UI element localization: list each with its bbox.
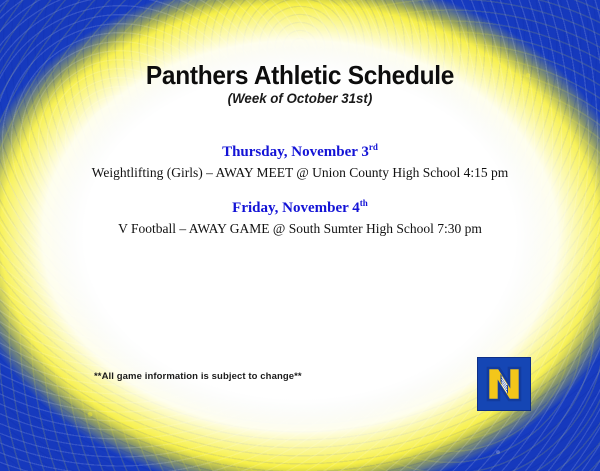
schedule-list: Thursday, November 3rd Weightlifting (Gi…: [0, 142, 600, 254]
entry-date-text: Friday, November 4: [232, 200, 360, 216]
entry-detail-text: V Football – AWAY GAME @ South Sumter Hi…: [0, 219, 600, 238]
entry-date-heading: Friday, November 4th: [0, 198, 600, 218]
entry-date-ordinal: th: [360, 198, 368, 208]
entry-date-heading: Thursday, November 3rd: [0, 142, 600, 162]
flyer-page: Panthers Athletic Schedule (Week of Octo…: [0, 0, 600, 471]
page-subtitle: (Week of October 31st): [15, 90, 585, 106]
letter-n-icon: [484, 364, 524, 404]
entry-date-ordinal: rd: [369, 142, 378, 152]
flyer-content: Panthers Athletic Schedule (Week of Octo…: [0, 0, 600, 471]
schedule-entry: Friday, November 4th V Football – AWAY G…: [0, 198, 600, 238]
page-title: Panthers Athletic Schedule: [18, 60, 582, 91]
entry-detail-text: Weightlifting (Girls) – AWAY MEET @ Unio…: [0, 163, 600, 182]
disclaimer-note: **All game information is subject to cha…: [94, 371, 302, 382]
entry-date-text: Thursday, November 3: [222, 144, 369, 160]
school-logo: [477, 357, 531, 411]
schedule-entry: Thursday, November 3rd Weightlifting (Gi…: [0, 142, 600, 182]
